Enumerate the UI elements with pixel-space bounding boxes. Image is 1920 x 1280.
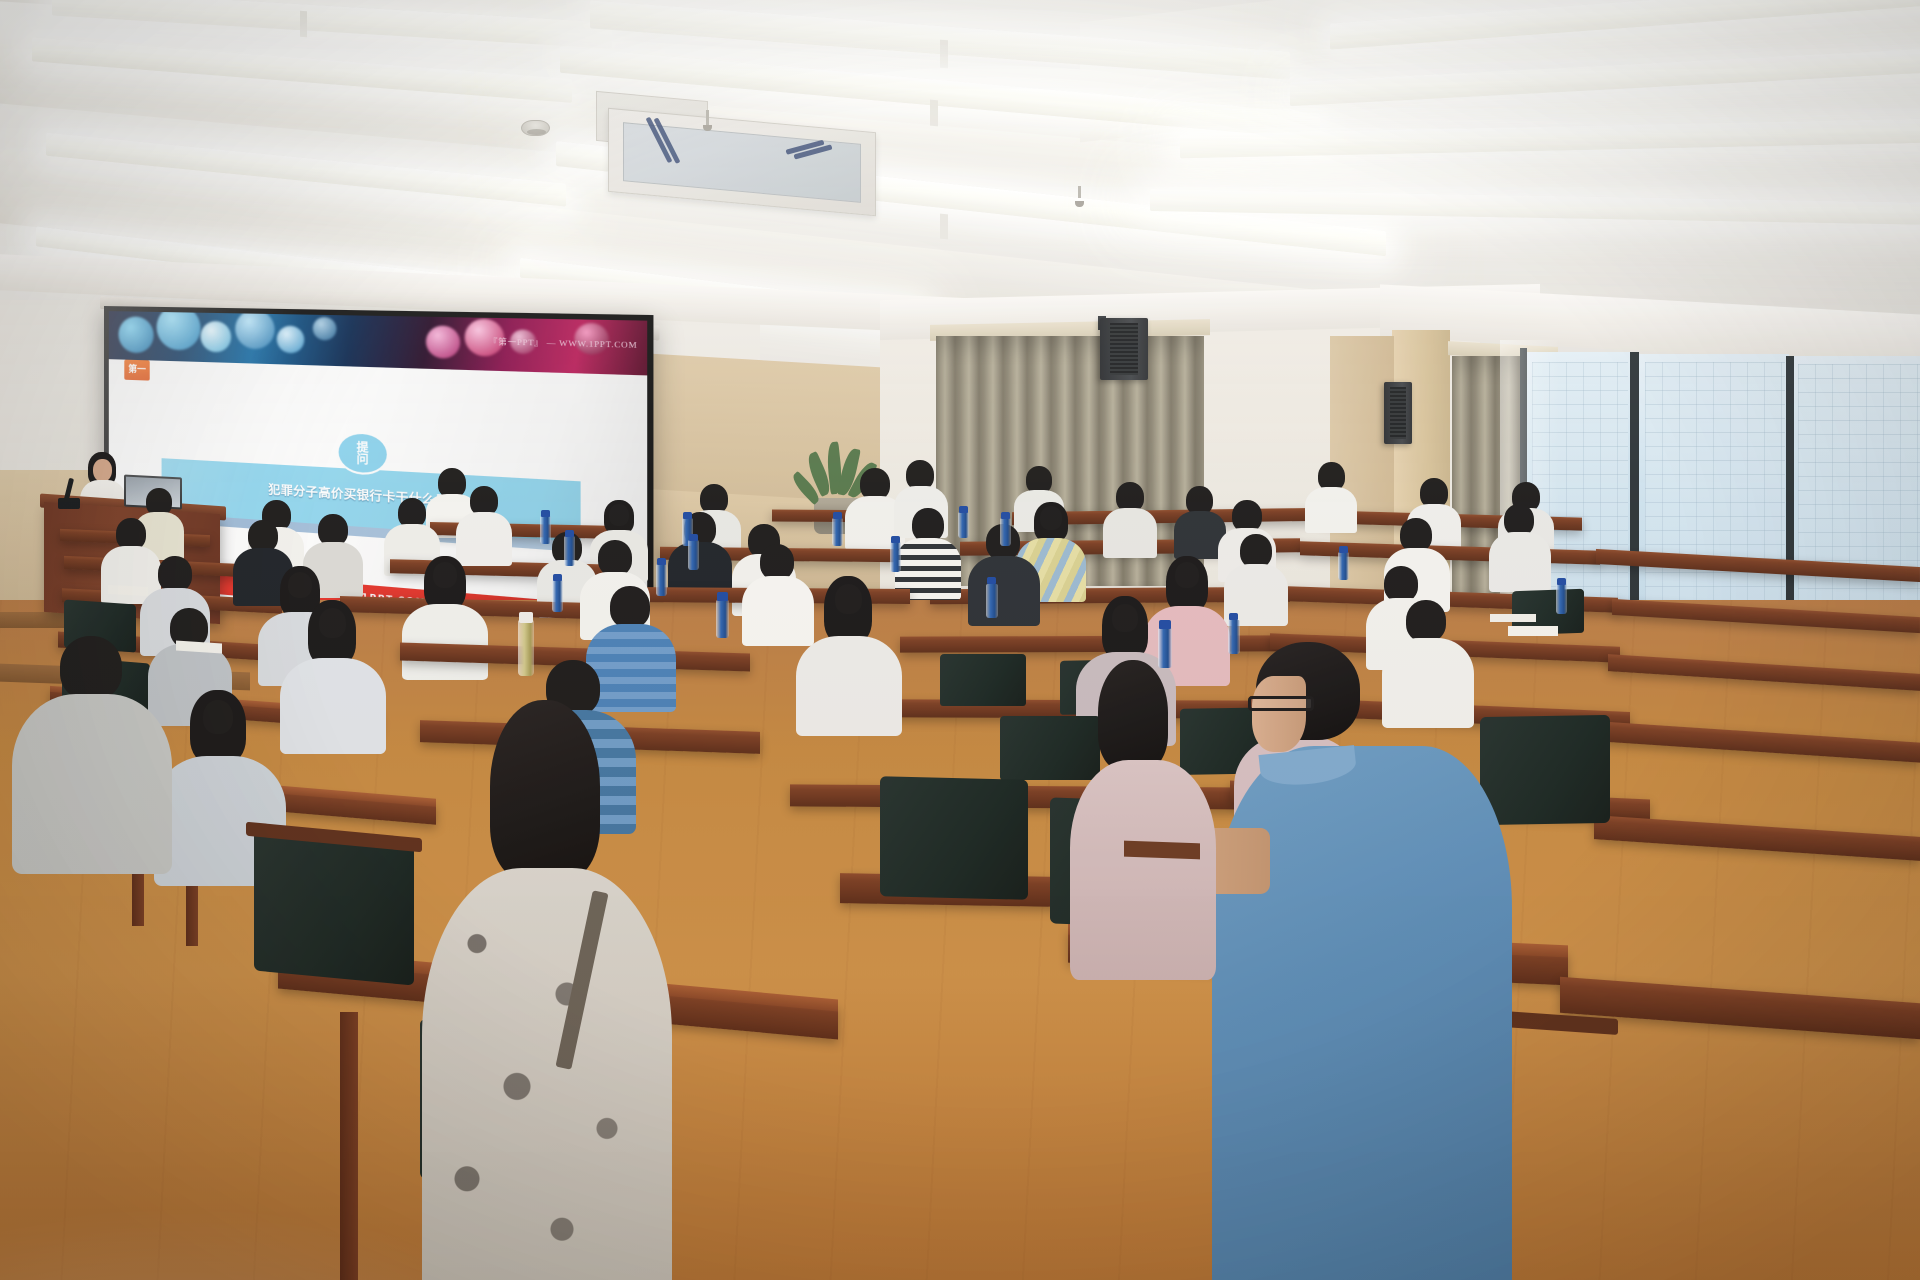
bottle-cap bbox=[1001, 512, 1010, 519]
podium-microphone-base bbox=[58, 498, 80, 509]
desk-leg bbox=[340, 1012, 358, 1280]
notepad bbox=[1490, 614, 1536, 622]
water-bottle bbox=[890, 542, 901, 572]
office-building-outside bbox=[1798, 364, 1920, 640]
bottle-cap bbox=[1557, 578, 1566, 585]
logo-text: 第一 bbox=[128, 365, 146, 375]
chair-back bbox=[940, 654, 1026, 706]
water-bottle bbox=[1158, 628, 1172, 668]
notepad bbox=[1508, 626, 1558, 636]
bottle-cap bbox=[959, 506, 968, 513]
water-bottle bbox=[688, 540, 699, 570]
water-bottle bbox=[540, 516, 551, 544]
water-bottle bbox=[716, 600, 729, 638]
badge-char-2: 问 bbox=[356, 453, 368, 465]
water-bottle bbox=[564, 536, 575, 566]
face bbox=[1252, 676, 1306, 752]
bottle-cap bbox=[657, 558, 666, 565]
water-bottle bbox=[986, 584, 998, 618]
water-bottle bbox=[1000, 518, 1011, 546]
office-building-outside bbox=[1645, 362, 1785, 636]
bottle-cap bbox=[683, 512, 692, 519]
water-bottle bbox=[1338, 552, 1349, 580]
eyeglasses-icon bbox=[1248, 696, 1314, 711]
sprinkler-head-icon bbox=[706, 110, 709, 127]
water-bottle bbox=[552, 580, 563, 612]
wall-speaker bbox=[1384, 382, 1412, 444]
bottle-cap bbox=[1229, 613, 1238, 620]
chair-back-foreground bbox=[880, 776, 1028, 900]
slide-watermark-top: 『第一PPT』 — WWW.1PPT.COM bbox=[489, 336, 637, 352]
bottle-cap bbox=[565, 530, 574, 537]
presenter-head bbox=[93, 459, 112, 482]
notepad bbox=[1124, 841, 1200, 860]
slide-header-photo-band: 『第一PPT』 — WWW.1PPT.COM bbox=[109, 311, 647, 375]
water-bottle bbox=[958, 512, 969, 538]
bottle-cap bbox=[1339, 546, 1348, 553]
chair-back-foreground bbox=[254, 830, 414, 985]
chair-back bbox=[1000, 716, 1100, 780]
bottle-cap bbox=[717, 592, 728, 601]
light-strip-divider bbox=[300, 11, 307, 37]
bottle-cap bbox=[541, 510, 550, 517]
wall-speaker bbox=[1100, 318, 1148, 380]
water-bottle bbox=[1228, 620, 1240, 654]
chair-back-foreground bbox=[1480, 715, 1610, 825]
bottle-cap bbox=[689, 534, 698, 541]
bottle-cap bbox=[987, 577, 996, 584]
torso bbox=[422, 868, 672, 1280]
torso bbox=[1212, 746, 1512, 1280]
water-bottle bbox=[656, 564, 667, 596]
sprinkler-head-icon bbox=[1078, 186, 1081, 198]
tea-bottle-cap bbox=[519, 612, 533, 623]
meeting-room-photo: 『第一PPT』 — WWW.1PPT.COM 第一 提 问 犯罪分子高价买银行卡… bbox=[0, 0, 1920, 1280]
light-strip-divider bbox=[940, 214, 948, 240]
first-ppt-logo-icon: 第一 bbox=[124, 360, 149, 381]
bottle-cap bbox=[1159, 620, 1171, 629]
bottle-cap bbox=[553, 574, 562, 581]
light-strip-divider bbox=[930, 100, 938, 127]
bottle-cap bbox=[891, 536, 900, 543]
tea-bottle bbox=[518, 620, 534, 676]
water-bottle bbox=[832, 518, 843, 546]
light-strip-divider bbox=[940, 40, 948, 69]
hair bbox=[490, 700, 600, 880]
window-mullion bbox=[1630, 352, 1639, 642]
bottle-cap bbox=[833, 512, 842, 519]
smoke-detector-icon bbox=[521, 120, 550, 136]
water-bottle bbox=[1556, 584, 1567, 614]
